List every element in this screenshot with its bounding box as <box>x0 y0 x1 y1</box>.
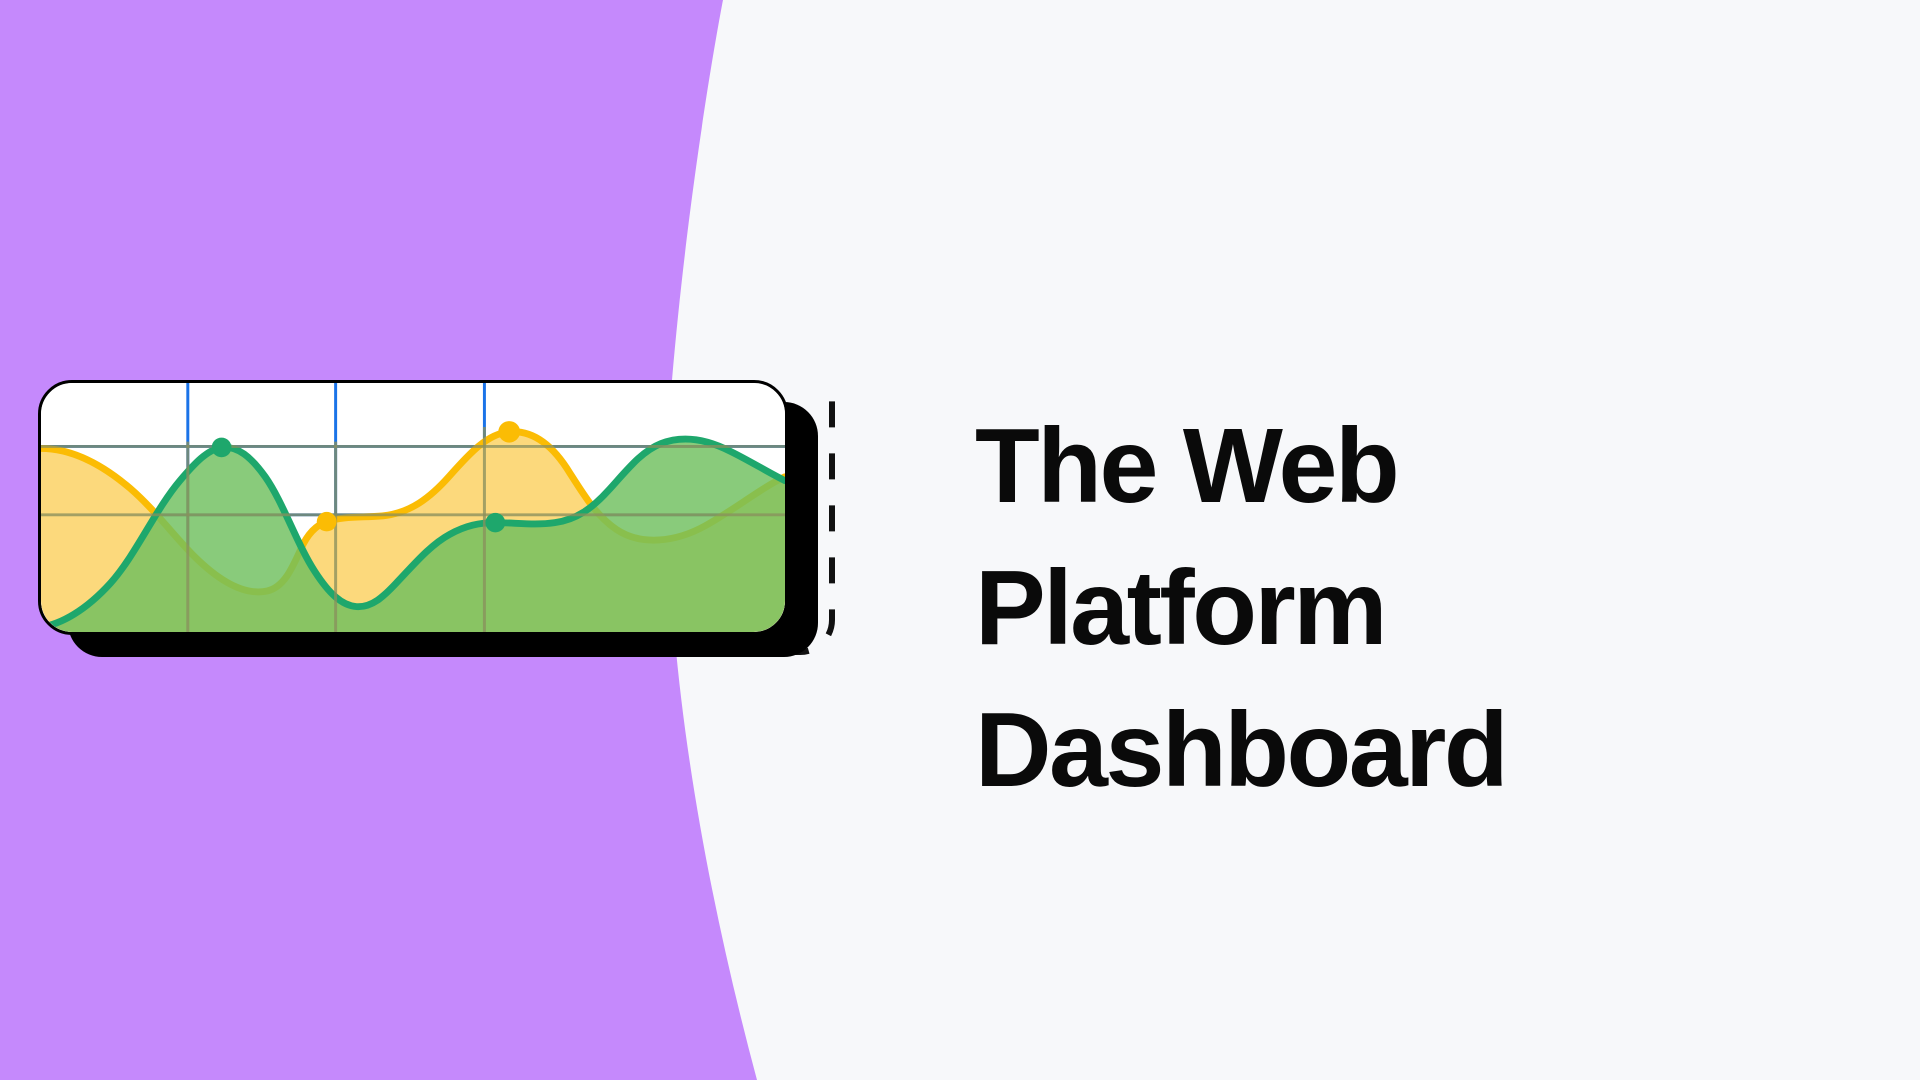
page-title-line-2: Platform <box>975 537 1735 679</box>
page-title-line-3: Dashboard <box>975 679 1735 821</box>
marker-green-1[interactable] <box>212 438 232 458</box>
chart-card-wrapper[interactable] <box>38 380 828 670</box>
marker-green-2[interactable] <box>485 513 505 533</box>
hero-canvas: The Web Platform Dashboard <box>0 0 1920 1080</box>
chart-card[interactable] <box>38 380 788 635</box>
marker-yellow-1[interactable] <box>317 512 337 532</box>
page-title: The Web Platform Dashboard <box>975 395 1735 821</box>
marker-yellow-2[interactable] <box>498 421 520 442</box>
page-title-line-1: The Web <box>975 395 1735 537</box>
area-chart <box>41 383 785 632</box>
